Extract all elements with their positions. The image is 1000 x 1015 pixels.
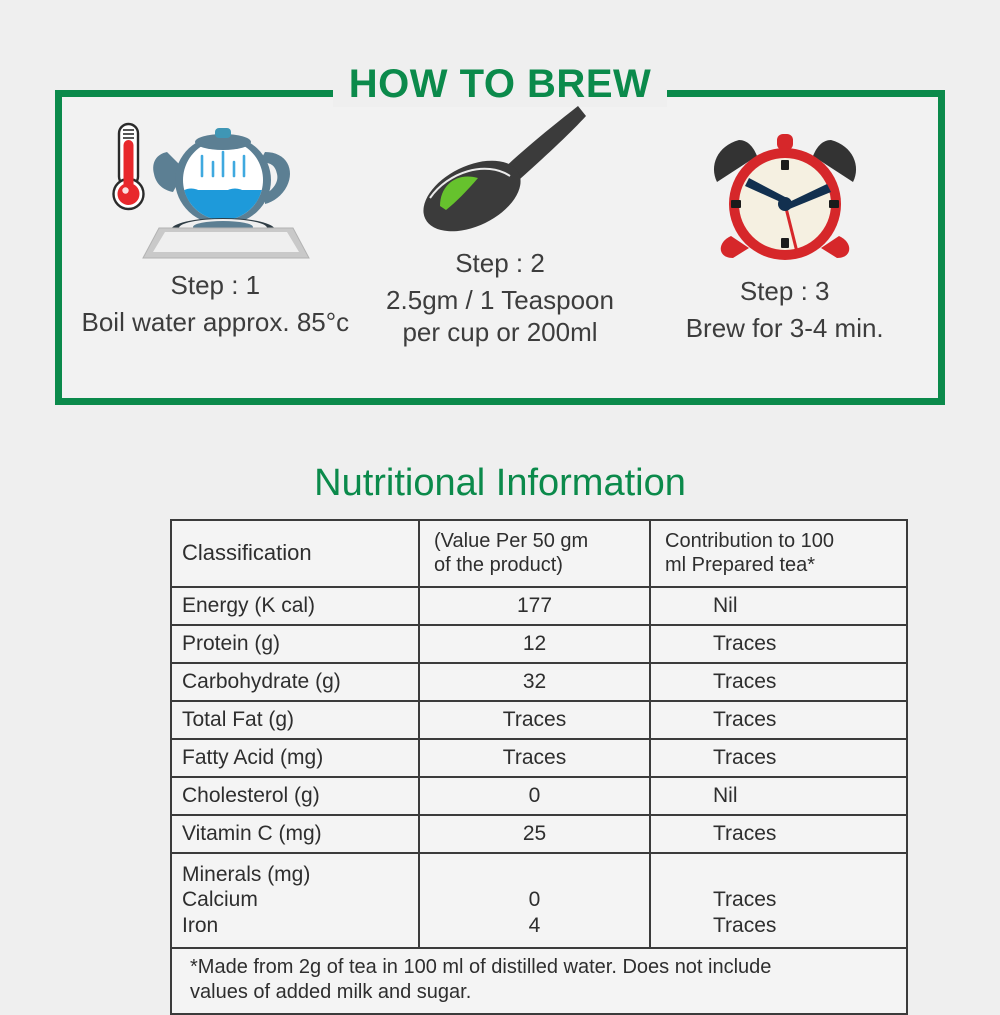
cell-classification: Vitamin C (mg): [171, 815, 419, 853]
brew-step-2: Step : 2 2.5gm / 1 Teaspoon per cup or 2…: [358, 93, 643, 349]
nutritional-information-title: Nutritional Information: [0, 462, 1000, 505]
nutrition-table: Classification (Value Per 50 gm of the p…: [170, 519, 908, 1015]
cell-contribution: Nil: [650, 777, 907, 815]
cell-value: Traces: [419, 739, 650, 777]
cell-value: 177: [419, 587, 650, 625]
cell-value: 0 4: [419, 853, 650, 948]
cell-value: Traces: [419, 701, 650, 739]
table-row: Vitamin C (mg) 25 Traces: [171, 815, 907, 853]
table-row: Carbohydrate (g) 32 Traces: [171, 663, 907, 701]
brew-step-3: Step : 3 Brew for 3-4 min.: [642, 121, 927, 344]
table-row: Protein (g) 12 Traces: [171, 625, 907, 663]
cell-contribution: Traces Traces: [650, 853, 907, 948]
cell-contribution: Nil: [650, 587, 907, 625]
cell-contribution: Traces: [650, 701, 907, 739]
table-row: Energy (K cal) 177 Nil: [171, 587, 907, 625]
table-row: Total Fat (g) Traces Traces: [171, 701, 907, 739]
cell-classification: Total Fat (g): [171, 701, 419, 739]
stove-icon: [143, 228, 309, 258]
table-row-minerals: Minerals (mg) Calcium Iron 0 4 Traces Tr…: [171, 853, 907, 948]
cell-classification: Fatty Acid (mg): [171, 739, 419, 777]
cell-classification: Protein (g): [171, 625, 419, 663]
brew-step-2-desc: 2.5gm / 1 Teaspoon per cup or 200ml: [386, 284, 614, 349]
kettle-on-stove-with-thermometer-icon: [107, 115, 317, 265]
cell-value: 12: [419, 625, 650, 663]
table-row: Cholesterol (g) 0 Nil: [171, 777, 907, 815]
cell-classification: Cholesterol (g): [171, 777, 419, 815]
brew-step-3-desc: Brew for 3-4 min.: [686, 312, 884, 345]
table-row: Fatty Acid (mg) Traces Traces: [171, 739, 907, 777]
brew-step-1-desc: Boil water approx. 85°c: [82, 306, 350, 339]
brew-steps-row: Step : 1 Boil water approx. 85°c Step : …: [55, 97, 945, 398]
cell-classification: Energy (K cal): [171, 587, 419, 625]
header-contribution: Contribution to 100 ml Prepared tea*: [650, 520, 907, 587]
cell-value: 0: [419, 777, 650, 815]
alarm-clock-icon: [695, 121, 875, 271]
cell-classification: Minerals (mg) Calcium Iron: [171, 853, 419, 948]
cell-contribution: Traces: [650, 815, 907, 853]
thermometer-icon: [114, 124, 144, 209]
brew-step-1-label: Step : 1: [171, 269, 261, 302]
header-value-per-50gm: (Value Per 50 gm of the product): [419, 520, 650, 587]
cell-value: 25: [419, 815, 650, 853]
cell-classification: Carbohydrate (g): [171, 663, 419, 701]
table-header-row: Classification (Value Per 50 gm of the p…: [171, 520, 907, 587]
kettle-icon: [154, 128, 291, 242]
brew-step-3-label: Step : 3: [740, 275, 830, 308]
cell-contribution: Traces: [650, 625, 907, 663]
infographic-page: HOW TO BREW: [0, 0, 1000, 1000]
brew-step-2-label: Step : 2: [455, 247, 545, 280]
header-classification: Classification: [171, 520, 419, 587]
spoon-with-tea-leaves-icon: [400, 93, 600, 243]
table-footnote: *Made from 2g of tea in 100 ml of distil…: [171, 948, 907, 1014]
cell-contribution: Traces: [650, 663, 907, 701]
brew-step-1: Step : 1 Boil water approx. 85°c: [73, 115, 358, 338]
table-footnote-row: *Made from 2g of tea in 100 ml of distil…: [171, 948, 907, 1014]
cell-contribution: Traces: [650, 739, 907, 777]
cell-value: 32: [419, 663, 650, 701]
